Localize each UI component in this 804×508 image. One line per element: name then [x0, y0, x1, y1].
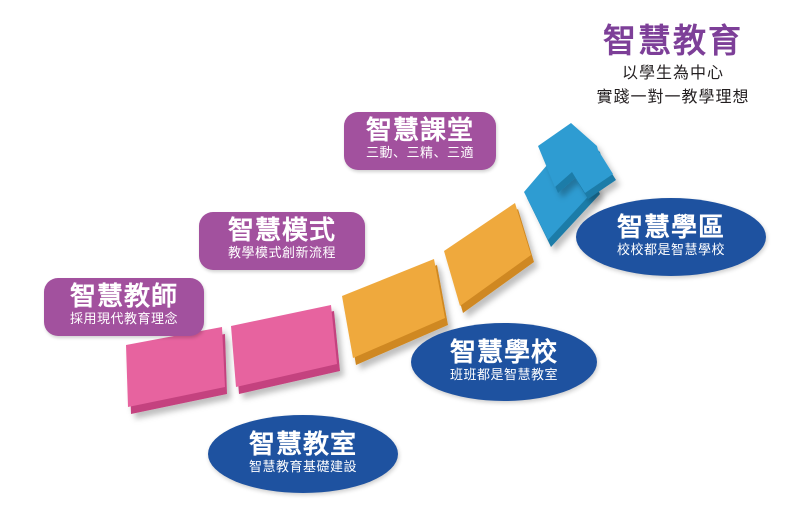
arrow-segment-1	[126, 327, 227, 414]
label-smart-classroom-teaching[interactable]: 智慧課堂 三動、三精、三適	[344, 112, 496, 170]
label-smart-classroom-teaching-title: 智慧課堂	[354, 117, 486, 146]
label-smart-classroom[interactable]: 智慧教室 智慧教育基礎建設	[208, 415, 398, 493]
arrow-segment-2	[231, 305, 340, 394]
headline-block: 智慧教育 以學生為中心 實踐一對一教學理想	[548, 22, 798, 109]
label-smart-classroom-subtitle: 智慧教育基礎建設	[249, 460, 357, 477]
arrow-segment-4	[444, 203, 534, 313]
label-smart-district-subtitle: 校校都是智慧學校	[617, 243, 725, 260]
infographic-canvas: 智慧教育 以學生為中心 實踐一對一教學理想 智慧教師 採用現代教育理念 智慧模式…	[0, 0, 804, 508]
label-smart-teacher-title: 智慧教師	[54, 283, 194, 312]
label-smart-classroom-title: 智慧教室	[249, 431, 357, 460]
label-smart-mode-title: 智慧模式	[209, 217, 355, 246]
label-smart-school-title: 智慧學校	[450, 339, 558, 368]
label-smart-classroom-teaching-subtitle: 三動、三精、三適	[354, 146, 486, 163]
label-smart-mode[interactable]: 智慧模式 教學模式創新流程	[199, 212, 365, 270]
headline-subtitle-line-1: 以學生為中心	[548, 61, 798, 85]
label-smart-teacher-subtitle: 採用現代教育理念	[54, 312, 194, 329]
label-smart-district[interactable]: 智慧學區 校校都是智慧學校	[576, 198, 766, 276]
label-smart-mode-subtitle: 教學模式創新流程	[209, 246, 355, 263]
headline-subtitle-line-2: 實踐一對一教學理想	[548, 85, 798, 109]
label-smart-teacher[interactable]: 智慧教師 採用現代教育理念	[44, 278, 204, 336]
label-smart-district-title: 智慧學區	[617, 214, 725, 243]
page-title: 智慧教育	[548, 22, 798, 61]
label-smart-school-subtitle: 班班都是智慧教室	[450, 368, 558, 385]
label-smart-school[interactable]: 智慧學校 班班都是智慧教室	[411, 323, 597, 401]
